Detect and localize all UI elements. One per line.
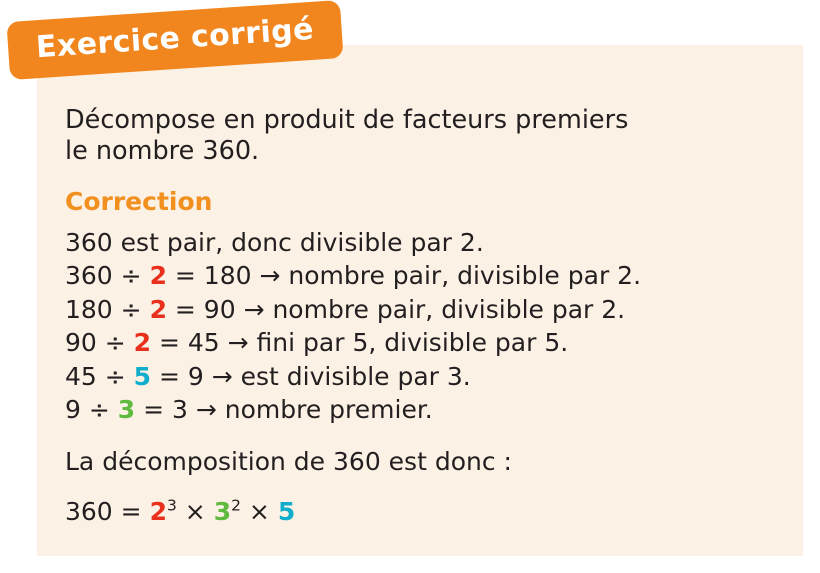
result-base-1: 2 — [150, 497, 167, 526]
result-multiply-2: × — [241, 497, 278, 526]
step-left: 9 ÷ — [65, 395, 118, 424]
step-factor: 5 — [134, 362, 151, 391]
solution-step: 180 ÷ 2 = 90 → nombre pair, divisible pa… — [65, 293, 785, 327]
result-prefix: 360 = — [65, 497, 150, 526]
solution-step: 45 ÷ 5 = 9 → est divisible par 3. — [65, 360, 785, 394]
result-base-3: 5 — [278, 497, 295, 526]
step-right: = 180 → nombre pair, divisible par 2. — [167, 261, 641, 290]
correction-heading: Correction — [65, 188, 785, 216]
step-left: 180 ÷ — [65, 295, 150, 324]
step-right: = 3 → nombre premier. — [135, 395, 433, 424]
statement-line-1: Décompose en produit de facteurs premier… — [65, 105, 785, 136]
step-text: 360 est pair, donc divisible par 2. — [65, 228, 484, 257]
step-left: 45 ÷ — [65, 362, 134, 391]
step-right: = 9 → est divisible par 3. — [151, 362, 471, 391]
exercise-content: Décompose en produit de facteurs premier… — [65, 105, 785, 528]
exercise-statement: Décompose en produit de facteurs premier… — [65, 105, 785, 167]
step-right: = 45 → fini par 5, divisible par 5. — [151, 328, 568, 357]
step-factor: 2 — [150, 295, 167, 324]
result-base-2: 3 — [214, 497, 231, 526]
conclusion-text: La décomposition de 360 est donc : — [65, 445, 785, 478]
result-multiply-1: × — [177, 497, 214, 526]
solution-step: 360 ÷ 2 = 180 → nombre pair, divisible p… — [65, 259, 785, 293]
result-exponent-1: 3 — [167, 496, 177, 514]
solution-step: 90 ÷ 2 = 45 → fini par 5, divisible par … — [65, 326, 785, 360]
solution-step: 9 ÷ 3 = 3 → nombre premier. — [65, 393, 785, 427]
exercise-badge-label: Exercice corrigé — [35, 15, 315, 65]
step-left: 90 ÷ — [65, 328, 134, 357]
step-right: = 90 → nombre pair, divisible par 2. — [167, 295, 625, 324]
step-left: 360 ÷ — [65, 261, 150, 290]
result-exponent-2: 2 — [231, 496, 241, 514]
step-factor: 2 — [134, 328, 151, 357]
step-factor: 2 — [150, 261, 167, 290]
solution-step: 360 est pair, donc divisible par 2. — [65, 226, 785, 260]
statement-line-2: le nombre 360. — [65, 136, 785, 167]
factorization-result: 360 = 23 × 32 × 5 — [65, 495, 785, 528]
step-factor: 3 — [118, 395, 135, 424]
solution-steps: 360 est pair, donc divisible par 2. 360 … — [65, 226, 785, 427]
